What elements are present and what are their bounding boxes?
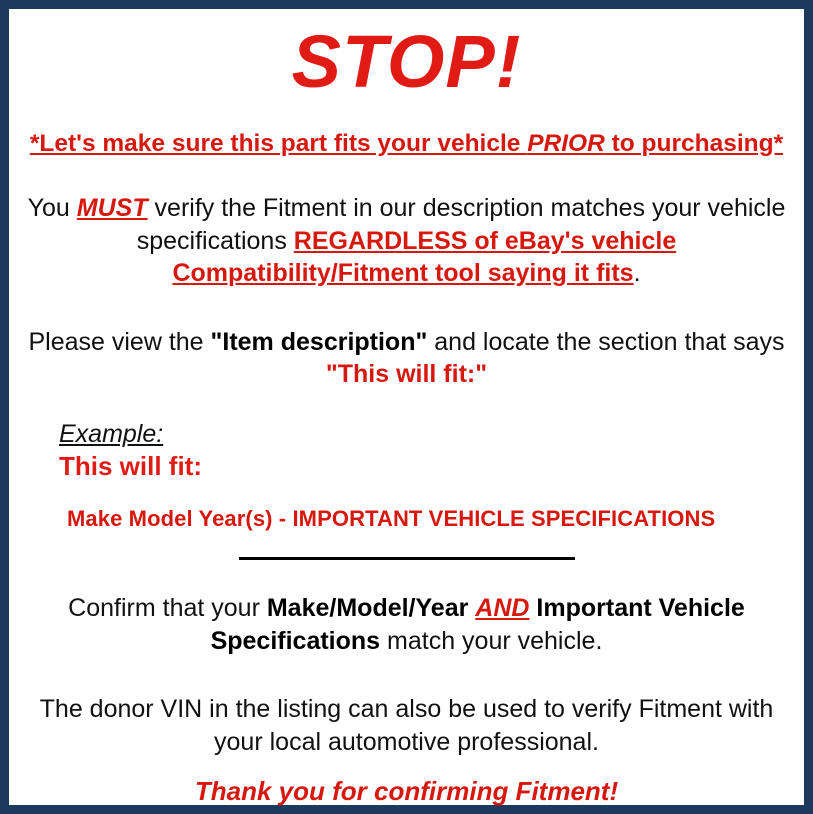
example-spec-line: Make Model Year(s) - IMPORTANT VEHICLE S…: [59, 482, 792, 531]
confirm-paragraph: Confirm that your Make/Model/Year AND Im…: [21, 560, 792, 657]
page-title: STOP!: [21, 9, 792, 101]
tagline: *Let's make sure this part fits your veh…: [21, 101, 792, 158]
confirm-text-part2: match your vehicle.: [380, 627, 602, 655]
tagline-text-before: *Let's make sure this part fits your veh…: [30, 130, 527, 157]
confirm-text-part1: Confirm that your: [68, 594, 267, 622]
tagline-emphasis-prior: PRIOR: [527, 130, 605, 157]
view-text-part2: and locate the section that says: [427, 328, 784, 356]
must-verify-paragraph: You MUST verify the Fitment in our descr…: [21, 158, 792, 290]
view-text-part1: Please view the: [28, 328, 210, 356]
example-label: Example:: [59, 421, 792, 449]
example-block: Example: This will fit: Make Model Year(…: [21, 391, 792, 532]
must-text-part3: .: [634, 259, 641, 287]
section-divider: [239, 557, 575, 560]
item-description-label: "Item description": [211, 328, 428, 356]
make-model-year-emphasis: Make/Model/Year: [267, 594, 468, 622]
fitment-notice-panel: STOP! *Let's make sure this part fits yo…: [0, 0, 813, 814]
this-will-fit-label: "This will fit:": [326, 360, 487, 388]
must-emphasis: MUST: [77, 194, 148, 222]
must-text-part1: You: [28, 194, 77, 222]
thank-you-message: Thank you for confirming Fitment!: [21, 758, 792, 807]
example-fit-heading: This will fit:: [59, 448, 792, 482]
item-description-paragraph: Please view the "Item description" and l…: [21, 290, 792, 391]
donor-vin-paragraph: The donor VIN in the listing can also be…: [21, 657, 792, 758]
and-emphasis: AND: [475, 594, 529, 622]
tagline-text-after: to purchasing*: [605, 130, 783, 157]
divider-wrapper: [21, 531, 792, 560]
